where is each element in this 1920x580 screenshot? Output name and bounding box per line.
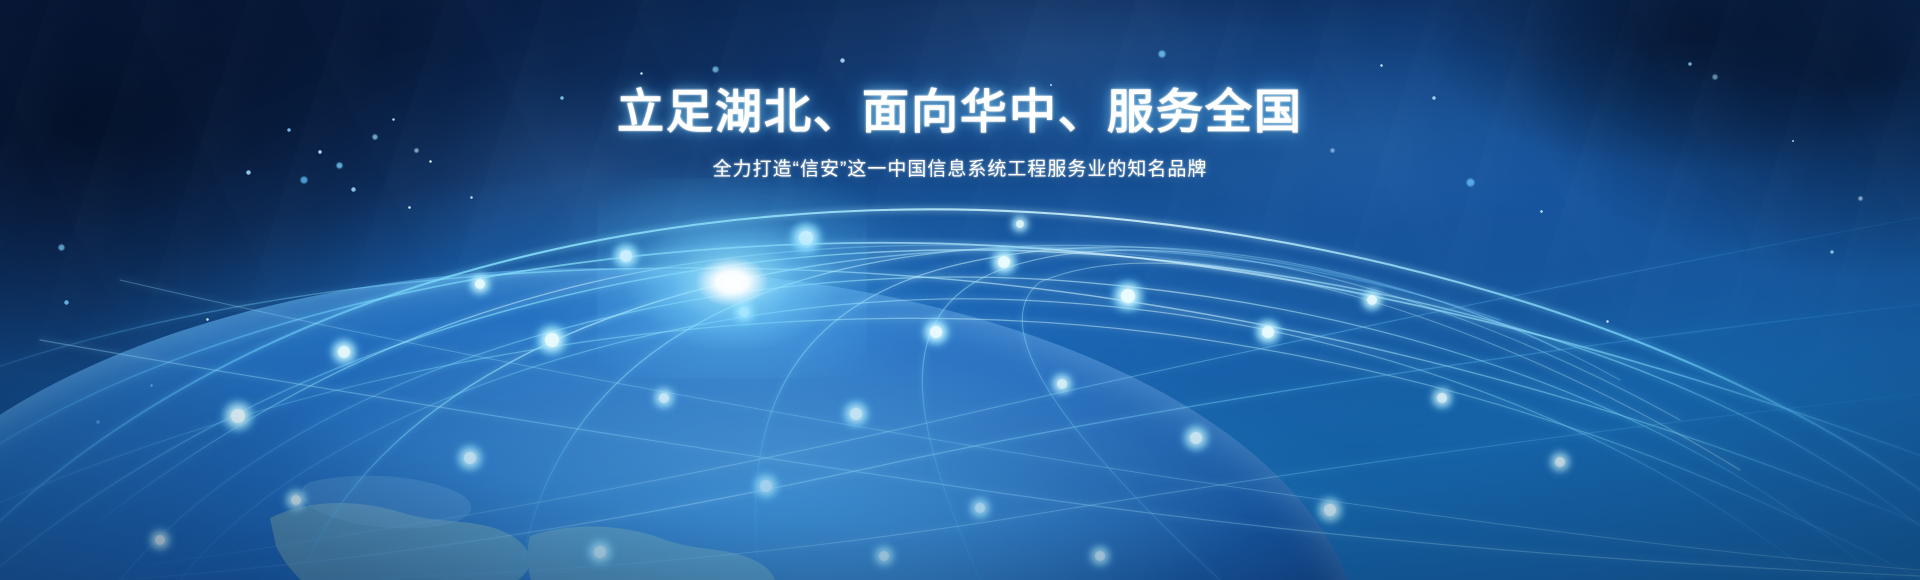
network-node-icon (1324, 504, 1336, 516)
network-node-icon (155, 535, 165, 545)
network-node-icon (1437, 393, 1447, 403)
network-node-icon (464, 452, 476, 464)
network-node-icon (231, 409, 245, 423)
network-node-icon (338, 346, 350, 358)
network-node-icon (879, 551, 889, 561)
network-node-icon (1057, 379, 1067, 389)
network-node-icon (1190, 432, 1202, 444)
network-node-icon (760, 480, 772, 492)
hero-banner: 立足湖北、面向华中、服务全国 全力打造“信安”这一中国信息系统工程服务业的知名品… (0, 0, 1920, 580)
light-burst-icon (597, 178, 867, 378)
network-node-icon (1121, 289, 1135, 303)
network-node-icon (1555, 457, 1565, 467)
network-node-icon (594, 546, 606, 558)
network-node-icon (975, 503, 985, 513)
network-node-icon (291, 495, 301, 505)
network-node-icon (1367, 295, 1377, 305)
network-node-icon (1262, 326, 1274, 338)
network-node-icon (1095, 551, 1105, 561)
